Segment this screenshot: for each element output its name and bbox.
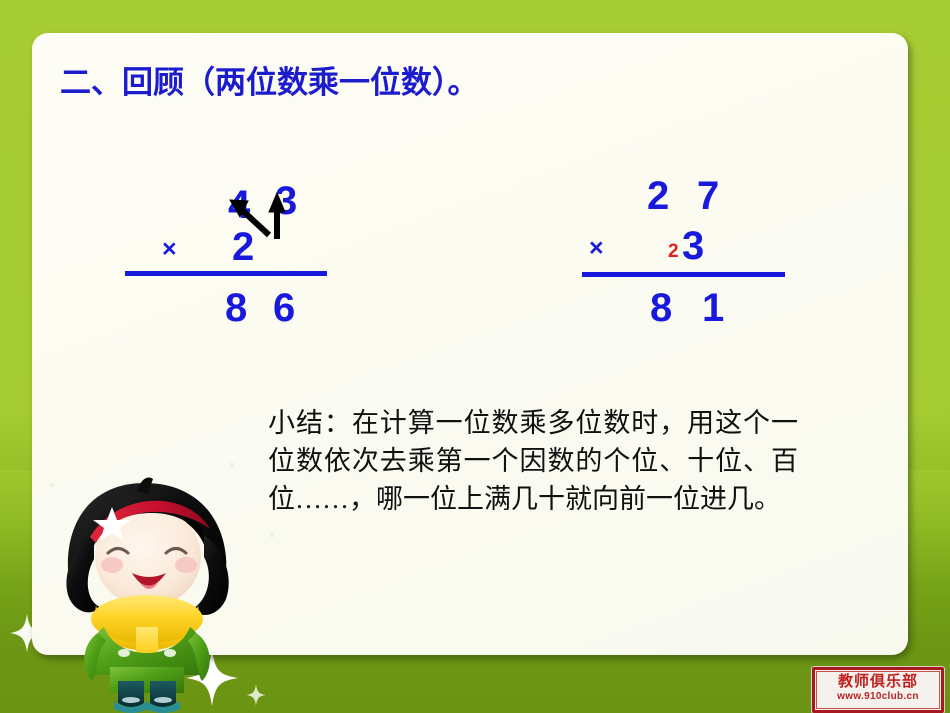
problem1-answer-rule <box>125 271 327 276</box>
problem1-operator: × <box>162 237 177 262</box>
problem2-answer-rule <box>582 272 785 277</box>
problem2-carry-digit: 2 <box>668 242 679 261</box>
girl-cheek-left <box>101 557 123 573</box>
problem2-product-tens: 8 <box>650 288 672 328</box>
watermark-url: www.910club.cn <box>817 691 939 702</box>
problem2-operator: × <box>589 236 604 261</box>
summary-text: 小结：在计算一位数乘多位数时，用这个一位数依次去乘第一个因数的个位、十位、百位…… <box>268 404 798 518</box>
multiplication-problem-1: 4 3 × 2 8 6 <box>120 175 350 340</box>
multiplication-problem-2: 2 7 × 2 3 8 1 <box>575 168 805 333</box>
girl-boot-highlight-left <box>122 697 140 703</box>
problem2-multiplier: 3 <box>682 226 704 266</box>
problem1-product-ones: 6 <box>273 288 295 328</box>
cartoon-girl-illustration <box>52 477 238 713</box>
problem2-multiplicand-tens: 2 <box>647 176 669 216</box>
problem1-product-tens: 8 <box>225 288 247 328</box>
girl-coat-button-left <box>118 649 130 657</box>
problem2-product-ones: 1 <box>702 288 724 328</box>
multiplication-order-arrows <box>215 177 315 257</box>
girl-cheek-right <box>175 557 197 573</box>
watermark-title: 教师俱乐部 <box>817 672 939 691</box>
girl-coat-button-right <box>164 649 176 657</box>
slide-canvas: 二、回顾（两位数乘一位数）。 4 3 × 2 8 6 2 7 × <box>0 0 950 713</box>
watermark-inner-frame: 教师俱乐部 www.910club.cn <box>816 671 940 709</box>
girl-boot-highlight-right <box>154 697 172 703</box>
problem2-multiplicand-ones: 7 <box>697 176 719 216</box>
girl-boot-right <box>150 681 176 707</box>
watermark-badge: 教师俱乐部 www.910club.cn <box>812 667 944 713</box>
girl-boot-left <box>118 681 144 707</box>
page-title: 二、回顾（两位数乘一位数）。 <box>60 57 479 102</box>
